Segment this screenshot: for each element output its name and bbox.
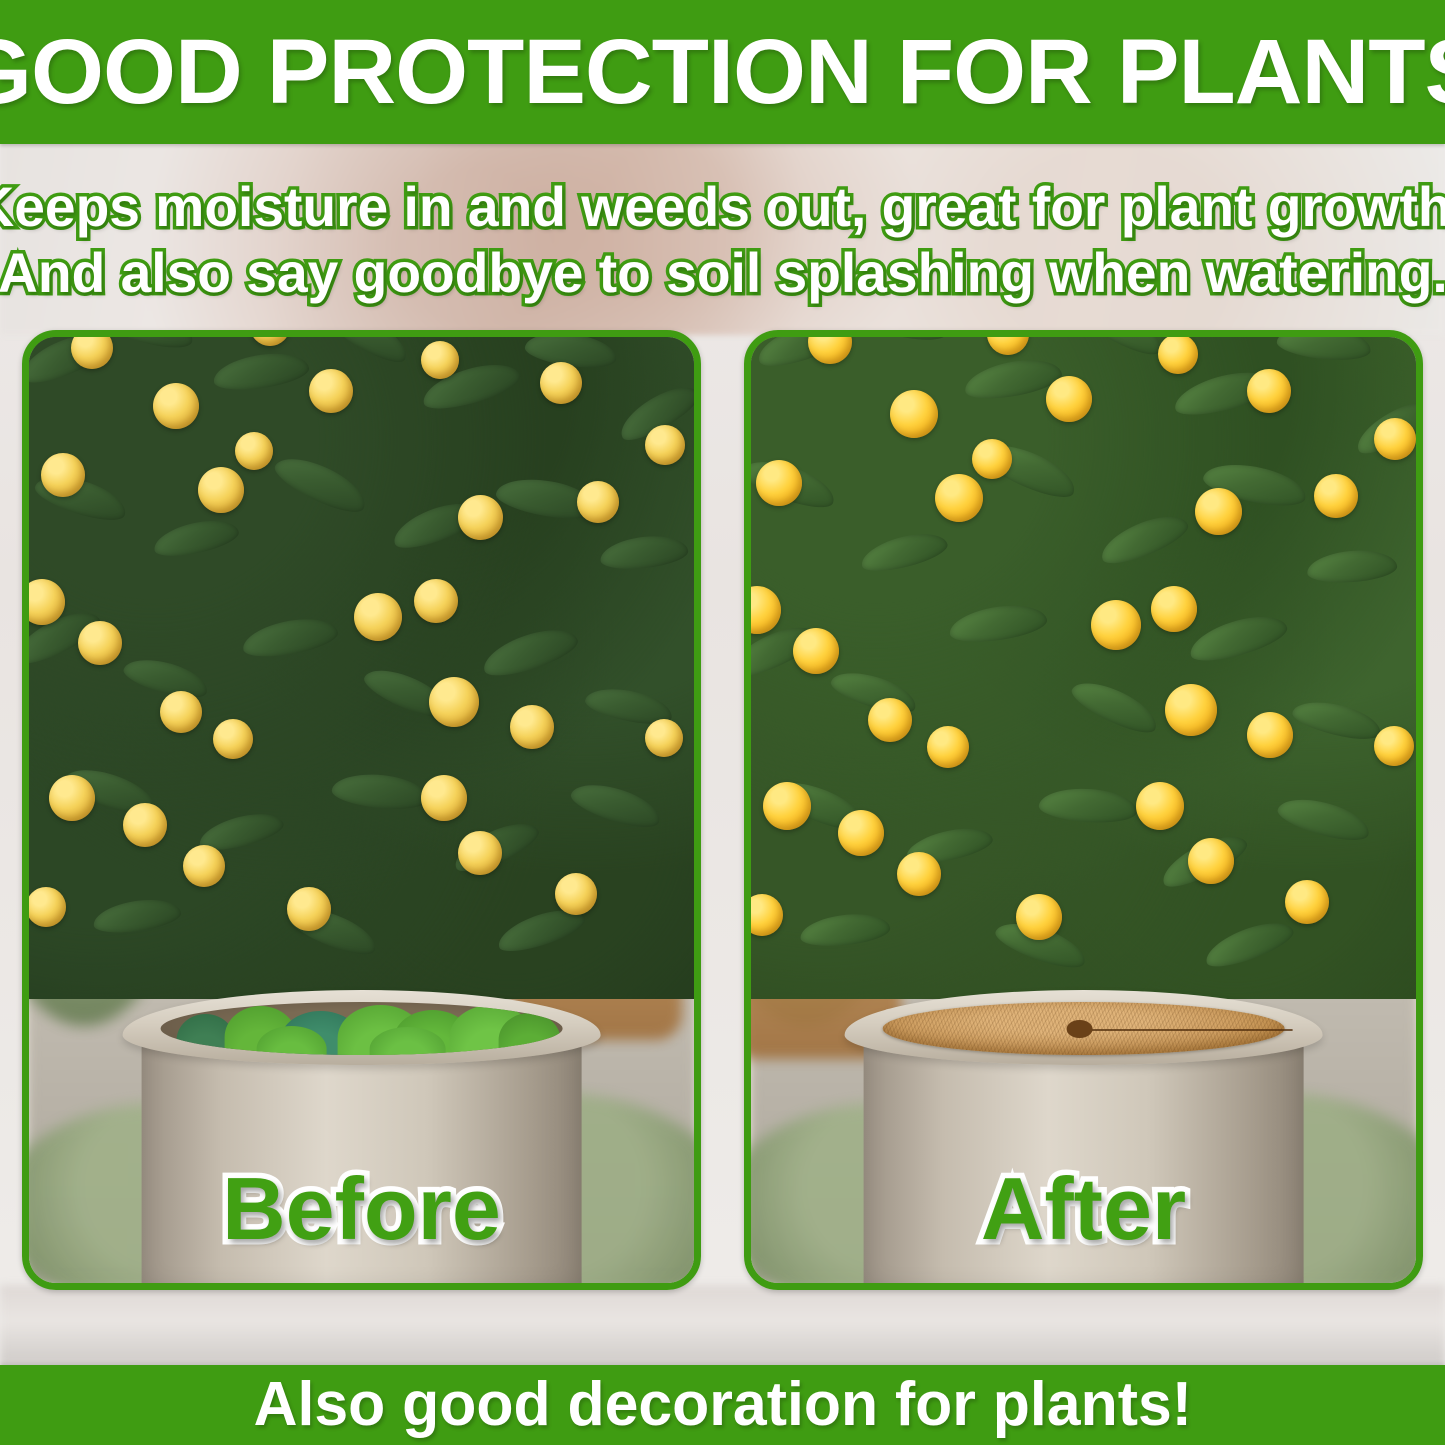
tree-canopy — [29, 337, 694, 999]
before-caption: Before — [29, 1165, 694, 1253]
mat-center-hole — [1066, 1020, 1092, 1038]
after-photo — [751, 337, 1416, 1283]
mat-slit — [1083, 1029, 1292, 1031]
before-photo — [29, 337, 694, 1283]
scene-before — [29, 337, 694, 1283]
before-panel: Before — [22, 330, 701, 1290]
coco-mulch-mat — [882, 1002, 1284, 1055]
product-infographic: GOOD PROTECTION FOR PLANTS Keeps moistur… — [0, 0, 1445, 1445]
subtitle-line-2: And also say goodbye to soil splashing w… — [0, 243, 1445, 302]
soil-with-weeds — [160, 1002, 562, 1055]
scene-after — [751, 337, 1416, 1283]
after-caption: After — [751, 1165, 1416, 1253]
tree-canopy — [751, 337, 1416, 999]
after-panel: After — [744, 330, 1423, 1290]
footer-text: Also good decoration for plants! — [253, 1374, 1191, 1436]
subtitle-line-1: Keeps moisture in and weeds out, great f… — [0, 177, 1445, 236]
page-title: GOOD PROTECTION FOR PLANTS — [0, 26, 1445, 118]
top-banner: GOOD PROTECTION FOR PLANTS — [0, 0, 1445, 144]
comparison-panels: Before — [0, 330, 1445, 1290]
subtitle-block: Keeps moisture in and weeds out, great f… — [0, 152, 1445, 327]
blurred-background-lower — [0, 1285, 1445, 1365]
bottom-banner: Also good decoration for plants! — [0, 1365, 1445, 1445]
